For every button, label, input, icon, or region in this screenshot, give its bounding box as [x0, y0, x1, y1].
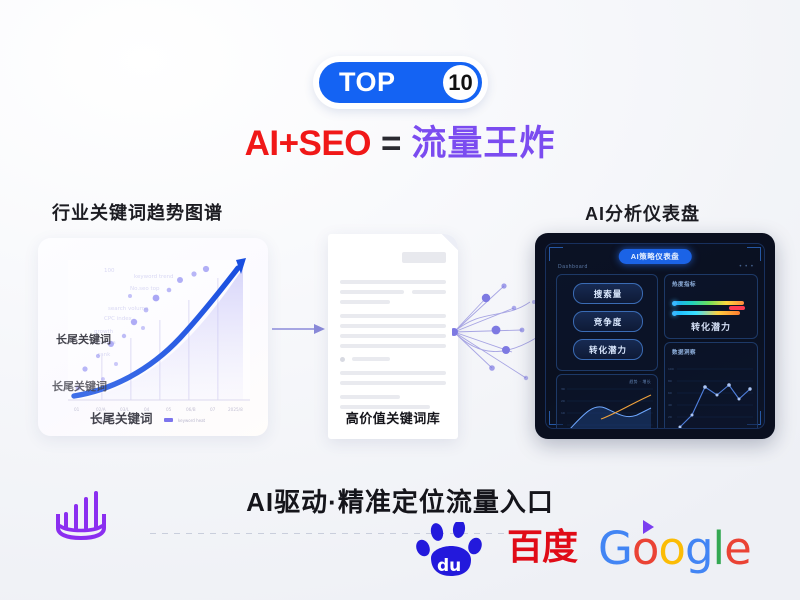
svg-text:No.seo top: No.seo top [130, 286, 160, 292]
headline-left: AI+SEO [245, 124, 371, 163]
gauge-alert-chip [729, 306, 745, 310]
badge-pill: TOP 10 [319, 62, 482, 103]
svg-text:30: 30 [561, 387, 565, 391]
dashboard-menu-icon[interactable]: • • • [739, 264, 754, 270]
svg-text:80: 80 [668, 379, 672, 383]
badge-number: 10 [448, 72, 472, 94]
right-section-caption: AI分析仪表盘 [585, 200, 700, 226]
svg-text:06/B: 06/B [186, 407, 196, 412]
dashboard-title: AI策略仪表盘 [619, 249, 692, 264]
baidu-paw-icon: du [415, 522, 501, 580]
main-headline: AI+SEO=流量王炸 [0, 126, 800, 161]
svg-text:07: 07 [210, 407, 216, 412]
trend-keyword-label-3: 长尾关键词 [90, 408, 153, 427]
ai-dashboard-tablet: AI策略仪表盘 Dashboard • • • 搜索量 竞争度 转化潜力 趋势 … [535, 233, 775, 439]
keyword-library-document: 高价值关键词库 [328, 234, 458, 439]
badge-label: TOP [339, 69, 396, 96]
gauge-bar-secondary [674, 311, 740, 315]
google-letter-l: l [713, 522, 725, 575]
svg-text:keyword heat: keyword heat [178, 418, 206, 423]
doc-line [340, 290, 404, 294]
search-engine-logos: du 百度 Google [415, 516, 755, 580]
area-chart-svg: 3020 100 11/111/8 11/1511/2211/30 [557, 375, 657, 429]
doc-line [412, 290, 446, 294]
doc-line [340, 314, 446, 318]
google-letter-o1: o [632, 522, 659, 575]
doc-line [340, 334, 446, 338]
doc-line [340, 344, 446, 348]
metric-pill-search-volume[interactable]: 搜索量 [573, 283, 643, 304]
svg-text:20: 20 [668, 415, 672, 419]
svg-text:60: 60 [668, 391, 672, 395]
doc-line [340, 381, 446, 385]
svg-text:10: 10 [561, 411, 565, 415]
gauge-overlay-text: 转化潜力 [665, 320, 757, 333]
doc-bullet-icon [340, 357, 345, 362]
node-network-graph [452, 268, 542, 396]
svg-text:CPC index: CPC index [104, 316, 133, 322]
svg-text:100: 100 [104, 268, 115, 274]
gauge-marker-dot [672, 301, 677, 306]
svg-text:20: 20 [561, 399, 565, 403]
line-chart-svg: 10080 6040 200 Q1Q2 Q3Q4Q5 [665, 343, 757, 429]
gauge-marker-dot [672, 311, 677, 316]
flow-arrow-icon [272, 322, 326, 336]
doc-line [340, 300, 390, 304]
doc-line [352, 357, 390, 361]
google-letter-e: e [724, 522, 751, 575]
trend-area-panel: 趋势 · 增长 3020 100 11/111/8 [556, 374, 658, 429]
trend-keyword-label-2: 长尾关键词 [52, 378, 107, 394]
document-caption: 高价值关键词库 [328, 408, 458, 427]
corner-bracket-icon [549, 247, 563, 261]
baidu-wordmark: 百度 [507, 530, 577, 566]
svg-text:40: 40 [668, 403, 672, 407]
svg-text:rank: rank [98, 352, 111, 358]
headline-right: 流量王炸 [411, 124, 555, 163]
trend-keyword-label-1: 长尾关键词 [56, 331, 111, 347]
svg-text:keyword trend: keyword trend [134, 274, 174, 280]
baidu-du-text: du [437, 556, 461, 576]
headline-equals: = [381, 124, 401, 163]
metric-pills-panel: 搜索量 竞争度 转化潜力 [556, 274, 658, 371]
metric-pill-competition[interactable]: 竞争度 [573, 311, 643, 332]
svg-text:0: 0 [670, 427, 672, 429]
google-wordmark: Google [598, 526, 751, 571]
bottom-headline: AI驱动·精准定位流量入口 [0, 482, 800, 519]
google-letter-g2: g [685, 522, 713, 575]
dashboard-subtitle: Dashboard [558, 264, 588, 270]
google-letter-o2: o [658, 522, 685, 575]
page-fold-icon [442, 234, 458, 250]
poster-canvas: TOP 10 AI+SEO=流量王炸 行业关键词趋势图谱 AI分析仪表盘 [0, 0, 800, 600]
dashboard-screen: AI策略仪表盘 Dashboard • • • 搜索量 竞争度 转化潜力 趋势 … [545, 243, 765, 429]
doc-line [340, 395, 400, 399]
google-letter-g: G [598, 522, 632, 575]
doc-line [340, 371, 446, 375]
badge-number-circle: 10 [443, 65, 478, 100]
bar-chart-icon [48, 484, 114, 544]
svg-text:05: 05 [166, 407, 172, 412]
insight-line-panel: 数据洞察 [664, 342, 758, 429]
top-10-badge: TOP 10 [313, 56, 488, 109]
svg-text:2025/8: 2025/8 [228, 407, 243, 412]
svg-text:0: 0 [561, 428, 563, 429]
doc-header-chip [402, 252, 446, 263]
left-section-caption: 行业关键词趋势图谱 [52, 199, 223, 225]
gauge-bar-primary [674, 301, 744, 305]
doc-line [340, 324, 446, 328]
doc-line [340, 280, 446, 284]
svg-text:search volume: search volume [108, 306, 149, 312]
gauge-panel-label: 热度指标 [672, 280, 696, 288]
svg-text:100: 100 [668, 367, 674, 371]
trend-chart-card: keyword trend No.seo top search volume C… [38, 238, 268, 436]
corner-bracket-icon [747, 247, 761, 261]
heat-gauge-panel: 热度指标 转化潜力 [664, 274, 758, 339]
metric-pill-conversion[interactable]: 转化潜力 [573, 339, 643, 360]
svg-text:01: 01 [74, 407, 80, 412]
